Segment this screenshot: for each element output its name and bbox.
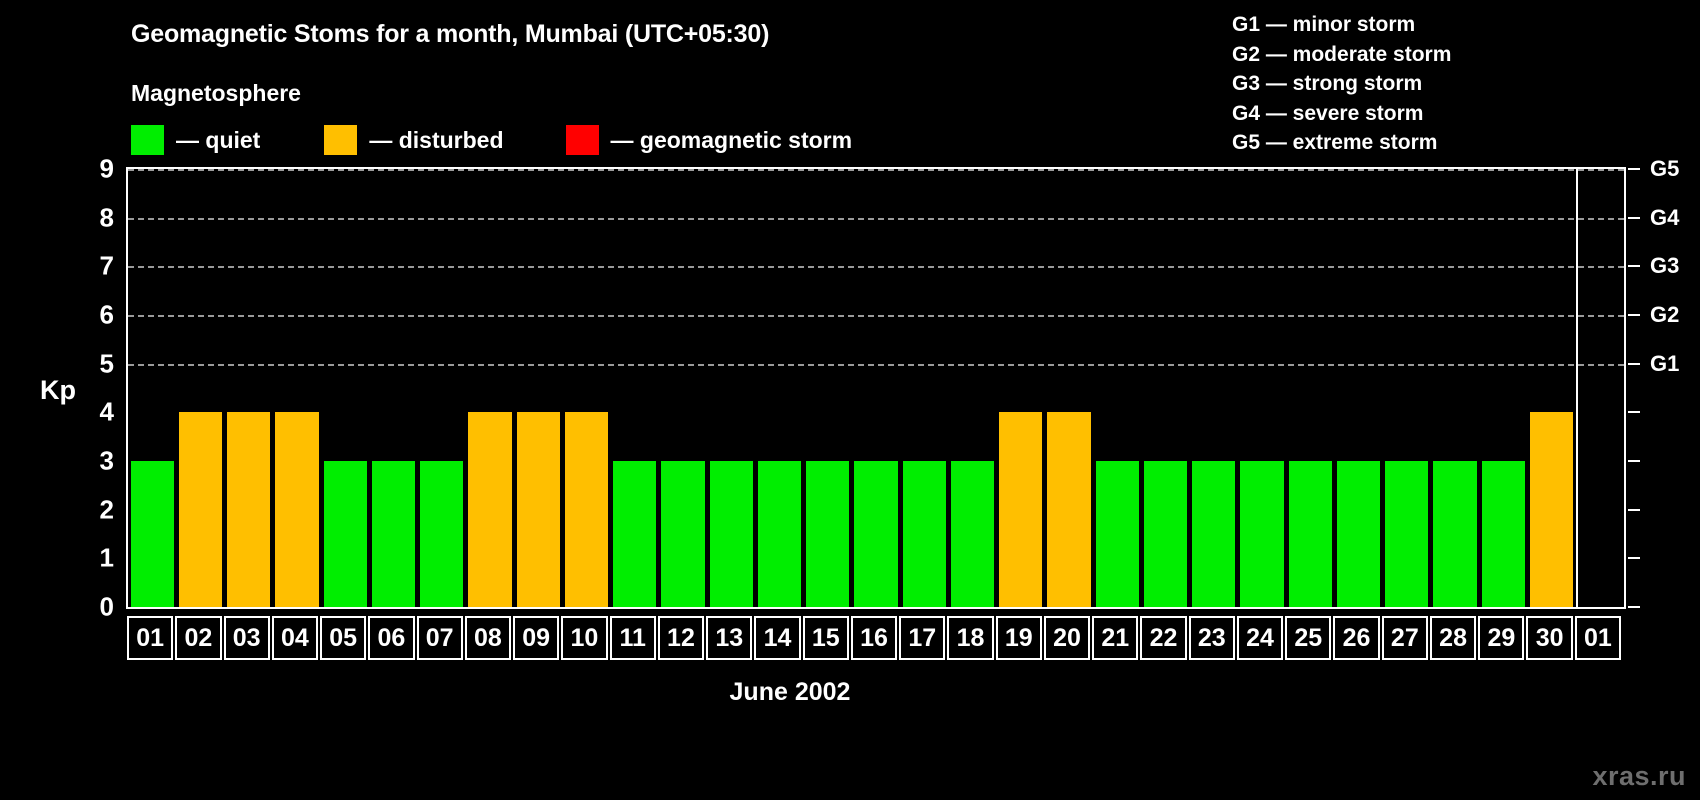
g-tick-mark-G1 — [1628, 363, 1640, 365]
watermark: xras.ru — [1592, 761, 1686, 792]
day-label-21: 21 — [1092, 616, 1138, 660]
right-tick-mark-kp-0 — [1628, 606, 1640, 608]
bar-day-07 — [420, 461, 463, 607]
y-tick-label-2: 2 — [66, 494, 114, 525]
bar-day-19 — [999, 412, 1042, 607]
g-axis-ticks: G1G2G3G4G5 — [1628, 167, 1698, 609]
day-label-20: 20 — [1044, 616, 1090, 660]
day-label-7: 07 — [417, 616, 463, 660]
day-label-9: 09 — [513, 616, 559, 660]
bar-day-06 — [372, 461, 415, 607]
bar-day-30 — [1530, 412, 1573, 607]
bar-day-16 — [854, 461, 897, 607]
right-tick-mark-kp-2 — [1628, 509, 1640, 511]
x-axis-day-labels: 0102030405060708091011121314151617181920… — [126, 616, 1626, 660]
y-tick-label-9: 9 — [66, 154, 114, 185]
g-tick-mark-G4 — [1628, 217, 1640, 219]
day-label-11: 11 — [610, 616, 656, 660]
bar-day-15 — [806, 461, 849, 607]
bar-day-17 — [903, 461, 946, 607]
g-tick-mark-G3 — [1628, 265, 1640, 267]
day-label-29: 29 — [1478, 616, 1524, 660]
day-label-2: 02 — [175, 616, 221, 660]
x-axis-title: June 2002 — [0, 678, 1700, 707]
g-tick-label-G4: G4 — [1650, 205, 1679, 231]
day-label-17: 17 — [899, 616, 945, 660]
day-label-19: 19 — [996, 616, 1042, 660]
bar-day-04 — [275, 412, 318, 607]
bar-day-25 — [1289, 461, 1332, 607]
legend-heading: Magnetosphere — [131, 80, 301, 107]
y-axis-ticks: 0123456789 — [66, 167, 114, 609]
g-scale-legend: G1 — minor stormG2 — moderate stormG3 — … — [1232, 10, 1451, 158]
g-tick-label-G3: G3 — [1650, 253, 1679, 279]
legend-swatch-quiet — [131, 125, 164, 155]
day-label-14: 14 — [754, 616, 800, 660]
y-tick-label-6: 6 — [66, 300, 114, 331]
y-tick-label-7: 7 — [66, 251, 114, 282]
day-label-12: 12 — [658, 616, 704, 660]
bar-day-28 — [1433, 461, 1476, 607]
bar-day-23 — [1192, 461, 1235, 607]
day-label-10: 10 — [561, 616, 607, 660]
day-label-26: 26 — [1333, 616, 1379, 660]
day-label-30: 30 — [1526, 616, 1572, 660]
day-label-3: 03 — [224, 616, 270, 660]
legend-swatch-storm — [566, 125, 599, 155]
bar-day-18 — [951, 461, 994, 607]
legend-label-storm: — geomagnetic storm — [611, 127, 853, 154]
bar-day-12 — [661, 461, 704, 607]
g-scale-line-5: G5 — extreme storm — [1232, 128, 1451, 158]
day-label-28: 28 — [1430, 616, 1476, 660]
bar-day-13 — [710, 461, 753, 607]
plot-inner — [128, 169, 1624, 607]
day-label-23: 23 — [1189, 616, 1235, 660]
g-scale-line-1: G1 — minor storm — [1232, 10, 1451, 40]
y-tick-label-5: 5 — [66, 348, 114, 379]
day-label-4: 04 — [272, 616, 318, 660]
bar-day-11 — [613, 461, 656, 607]
day-label-15: 15 — [803, 616, 849, 660]
legend-label-disturbed: — disturbed — [369, 127, 503, 154]
g-scale-line-2: G2 — moderate storm — [1232, 40, 1451, 70]
day-label-31: 01 — [1575, 616, 1621, 660]
g-tick-label-G2: G2 — [1650, 302, 1679, 328]
bar-day-27 — [1385, 461, 1428, 607]
day-label-18: 18 — [947, 616, 993, 660]
x-axis-title-text: June 2002 — [730, 678, 851, 706]
legend-item-disturbed: — disturbed — [324, 124, 503, 156]
g-scale-line-3: G3 — strong storm — [1232, 69, 1451, 99]
legend-item-quiet: — quiet — [131, 124, 260, 156]
bar-day-20 — [1047, 412, 1090, 607]
bar-day-09 — [517, 412, 560, 607]
right-tick-mark-kp-3 — [1628, 460, 1640, 462]
magnetosphere-legend: — quiet— disturbed— geomagnetic storm — [131, 124, 852, 156]
bar-day-01 — [131, 461, 174, 607]
y-tick-label-1: 1 — [66, 543, 114, 574]
bar-day-22 — [1144, 461, 1187, 607]
bar-day-26 — [1337, 461, 1380, 607]
day-label-27: 27 — [1382, 616, 1428, 660]
bar-day-29 — [1482, 461, 1525, 607]
g-tick-mark-G5 — [1628, 168, 1640, 170]
month-boundary-line — [1576, 169, 1578, 607]
day-label-5: 05 — [320, 616, 366, 660]
right-tick-mark-kp-4 — [1628, 411, 1640, 413]
bar-day-03 — [227, 412, 270, 607]
page-title: Geomagnetic Stoms for a month, Mumbai (U… — [131, 20, 769, 49]
plot-area — [126, 167, 1626, 609]
chart-page: Geomagnetic Stoms for a month, Mumbai (U… — [0, 0, 1700, 800]
bar-day-14 — [758, 461, 801, 607]
g-tick-label-G1: G1 — [1650, 351, 1679, 377]
y-tick-label-3: 3 — [66, 446, 114, 477]
day-label-1: 01 — [127, 616, 173, 660]
bar-day-24 — [1240, 461, 1283, 607]
legend-label-quiet: — quiet — [176, 127, 260, 154]
bar-day-02 — [179, 412, 222, 607]
g-scale-line-4: G4 — severe storm — [1232, 99, 1451, 129]
legend-swatch-disturbed — [324, 125, 357, 155]
y-tick-label-0: 0 — [66, 592, 114, 623]
bar-day-21 — [1096, 461, 1139, 607]
day-label-24: 24 — [1237, 616, 1283, 660]
right-tick-mark-kp-1 — [1628, 557, 1640, 559]
day-label-22: 22 — [1140, 616, 1186, 660]
g-tick-mark-G2 — [1628, 314, 1640, 316]
g-tick-label-G5: G5 — [1650, 156, 1679, 182]
y-tick-label-8: 8 — [66, 202, 114, 233]
legend-item-storm: — geomagnetic storm — [566, 124, 853, 156]
bar-day-05 — [324, 461, 367, 607]
bar-day-08 — [468, 412, 511, 607]
day-label-8: 08 — [465, 616, 511, 660]
day-label-16: 16 — [851, 616, 897, 660]
bar-series — [128, 169, 1624, 607]
day-label-25: 25 — [1285, 616, 1331, 660]
day-label-6: 06 — [368, 616, 414, 660]
bar-day-10 — [565, 412, 608, 607]
day-label-13: 13 — [706, 616, 752, 660]
y-tick-label-4: 4 — [66, 397, 114, 428]
